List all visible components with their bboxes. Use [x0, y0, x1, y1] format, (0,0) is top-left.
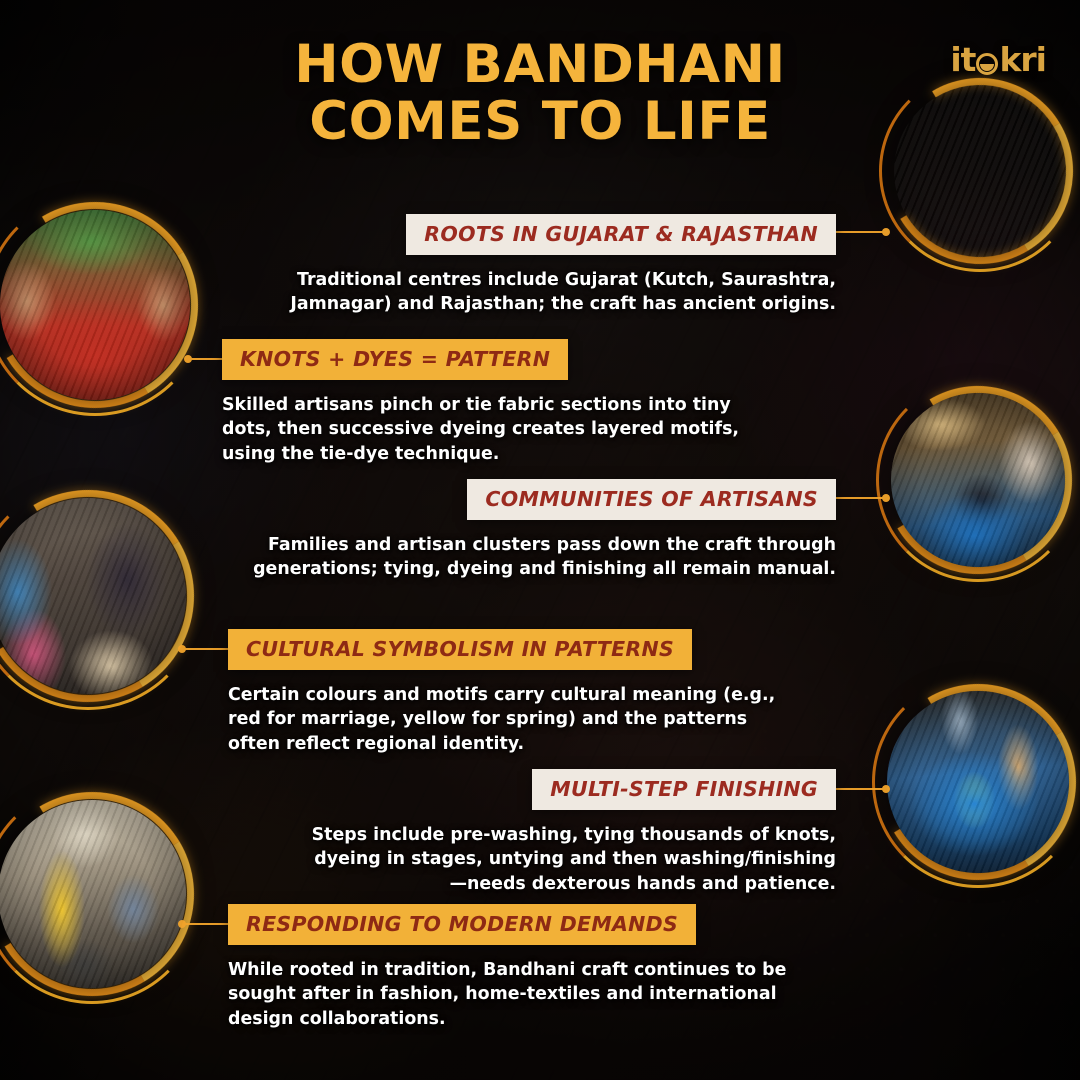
photo-3-shading [891, 393, 1065, 567]
brand-logo[interactable]: it kri [950, 40, 1046, 79]
connector-dot-1 [882, 228, 890, 236]
connector-line-5 [836, 788, 888, 790]
section-label-1[interactable]: ROOTS IN GUJARAT & RAJASTHAN [406, 214, 836, 255]
connector-line-1 [836, 231, 888, 233]
brand-logo-basket-icon [976, 53, 998, 75]
section-body-4: Certain colours and motifs carry cultura… [228, 683, 784, 756]
photo-5-shading [887, 691, 1069, 873]
connector-dot-3 [882, 494, 890, 502]
connector-line-6 [180, 923, 230, 925]
connector-dot-2 [184, 355, 192, 363]
photo-hands-tying-red-cloth [0, 210, 190, 400]
section-cultural-symbolism-in-patterns: CULTURAL SYMBOLISM IN PATTERNS Certain c… [228, 629, 784, 756]
section-body-2: Skilled artisans pinch or tie fabric sec… [222, 393, 770, 466]
section-communities-of-artisans: COMMUNITIES OF ARTISANS Families and art… [250, 479, 836, 582]
section-knots-dyes-pattern: KNOTS + DYES = PATTERN Skilled artisans … [222, 339, 770, 466]
section-label-6[interactable]: RESPONDING TO MODERN DEMANDS [228, 904, 696, 945]
photo-2-shading [0, 210, 190, 400]
section-multi-step-finishing: MULTI-STEP FINISHING Steps include pre-w… [300, 769, 836, 896]
section-label-2[interactable]: KNOTS + DYES = PATTERN [222, 339, 568, 380]
photo-women-artisans-knotting [0, 498, 186, 694]
connector-dot-4 [178, 645, 186, 653]
photo-man-lifting-yellow-skein [0, 800, 186, 988]
brand-logo-text-part-2: kri [999, 40, 1046, 79]
section-label-3[interactable]: COMMUNITIES OF ARTISANS [467, 479, 836, 520]
connector-line-3 [836, 497, 888, 499]
section-body-3: Families and artisan clusters pass down … [250, 533, 836, 582]
section-body-1: Traditional centres include Gujarat (Kut… [250, 268, 836, 317]
photo-4-shading [0, 498, 186, 694]
section-label-5[interactable]: MULTI-STEP FINISHING [532, 769, 836, 810]
connector-dot-6 [178, 920, 186, 928]
section-body-6: While rooted in tradition, Bandhani craf… [228, 958, 788, 1031]
section-roots-in-gujarat-rajasthan: ROOTS IN GUJARAT & RAJASTHAN Traditional… [250, 214, 836, 317]
section-body-5: Steps include pre-washing, tying thousan… [300, 823, 836, 896]
photo-dyer-blue-tub [891, 393, 1065, 567]
photo-6-shading [0, 800, 186, 988]
brand-logo-text-part-1: it [950, 40, 975, 79]
photo-1-shading [894, 85, 1066, 257]
section-label-4[interactable]: CULTURAL SYMBOLISM IN PATTERNS [228, 629, 692, 670]
section-responding-to-modern-demands: RESPONDING TO MODERN DEMANDS While roote… [228, 904, 788, 1031]
photo-women-tying-bandhani [894, 85, 1066, 257]
connector-dot-5 [882, 785, 890, 793]
photo-indigo-dye-vat [887, 691, 1069, 873]
connector-line-4 [180, 648, 230, 650]
